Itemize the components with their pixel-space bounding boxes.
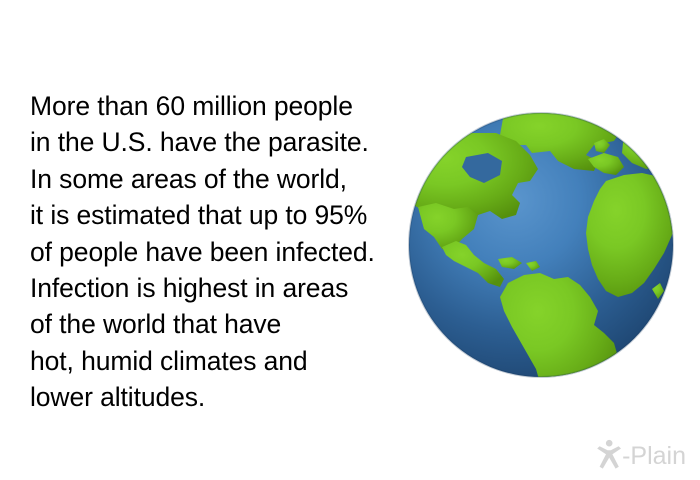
body-text-line: More than 60 million people <box>30 88 415 124</box>
body-text-line: In some areas of the world, <box>30 161 415 197</box>
body-text-line: hot, humid climates and <box>30 343 415 379</box>
body-text-block: More than 60 million people in the U.S. … <box>30 88 415 416</box>
body-text-line: it is estimated that up to 95% <box>30 197 415 233</box>
earth-globe-illustration <box>408 111 674 379</box>
x-plain-logo: -Plain <box>596 436 686 470</box>
body-text-line: lower altitudes. <box>30 379 415 415</box>
body-text-line: of the world that have <box>30 306 415 342</box>
logo-text: -Plain <box>622 443 686 470</box>
body-text-line: in the U.S. have the parasite. <box>30 124 415 160</box>
body-text-line: Infection is highest in areas <box>30 270 415 306</box>
body-text-line: of people have been infected. <box>30 234 415 270</box>
slide-canvas: More than 60 million people in the U.S. … <box>0 0 700 480</box>
earth-globe-icon <box>408 111 674 379</box>
x-plain-person-icon <box>596 439 622 469</box>
